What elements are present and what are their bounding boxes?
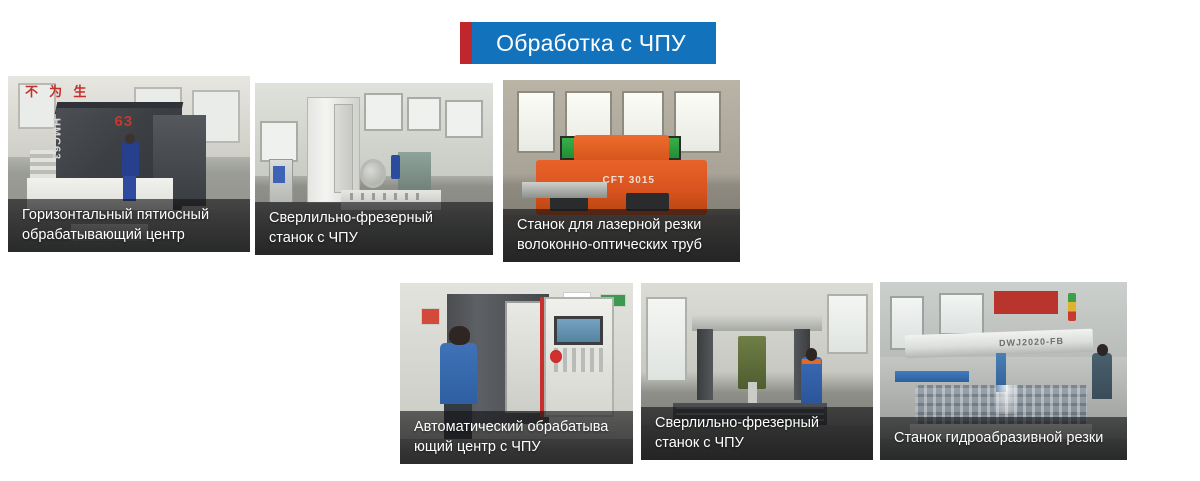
gallery-card-cnc-drilling-milling-machine[interactable]: Сверлильно-фрезерный станок с ЧПУ — [255, 83, 493, 255]
gallery-card-automatic-cnc-machining-center[interactable]: Автоматический обрабатыва ющий центр с Ч… — [400, 283, 633, 464]
page-title-banner: Обработка с ЧПУ — [460, 22, 716, 64]
title-banner-body: Обработка с ЧПУ — [472, 22, 716, 64]
caption-line: Автоматический обрабатыва — [414, 417, 625, 437]
gallery-card-fiber-laser-tube-cutting-machine[interactable]: CFT 3015 Станок для лазерной резки волок… — [503, 80, 740, 262]
caption-line: волоконно-оптических труб — [517, 235, 732, 255]
caption-line: Сверлильно-фрезерный — [655, 413, 865, 433]
caption-line: ющий центр с ЧПУ — [414, 437, 625, 457]
card-caption: Станок гидроабразивной резки — [880, 417, 1127, 460]
gallery-card-gantry-drilling-milling-machine[interactable]: Сверлильно-фрезерный станок с ЧПУ — [641, 283, 873, 460]
caption-line: Станок гидроабразивной резки — [894, 428, 1119, 448]
card-caption: Станок для лазерной резки волоконно-опти… — [503, 209, 740, 262]
card-caption: Горизонтальный пятиосный обрабатывающий … — [8, 199, 250, 252]
caption-line: станок с ЧПУ — [269, 228, 485, 248]
card-caption: Автоматический обрабатыва ющий центр с Ч… — [400, 411, 633, 464]
card-caption: Сверлильно-фрезерный станок с ЧПУ — [255, 202, 493, 255]
card-caption: Сверлильно-фрезерный станок с ЧПУ — [641, 407, 873, 460]
caption-line: Горизонтальный пятиосный — [22, 205, 242, 225]
caption-line: обрабатывающий центр — [22, 225, 242, 245]
caption-line: станок с ЧПУ — [655, 433, 865, 453]
page-title: Обработка с ЧПУ — [496, 32, 686, 55]
title-accent-bar — [460, 22, 472, 64]
caption-line: Сверлильно-фрезерный — [269, 208, 485, 228]
gallery-card-horizontal-five-axis-machining-center[interactable]: 不 为 生 HMC63 63 Горизонтальный пятиосный … — [8, 76, 250, 252]
caption-line: Станок для лазерной резки — [517, 215, 732, 235]
gallery-card-waterjet-cutting-machine[interactable]: DWJ2020-FB Станок гидроабразивной резки — [880, 282, 1127, 460]
